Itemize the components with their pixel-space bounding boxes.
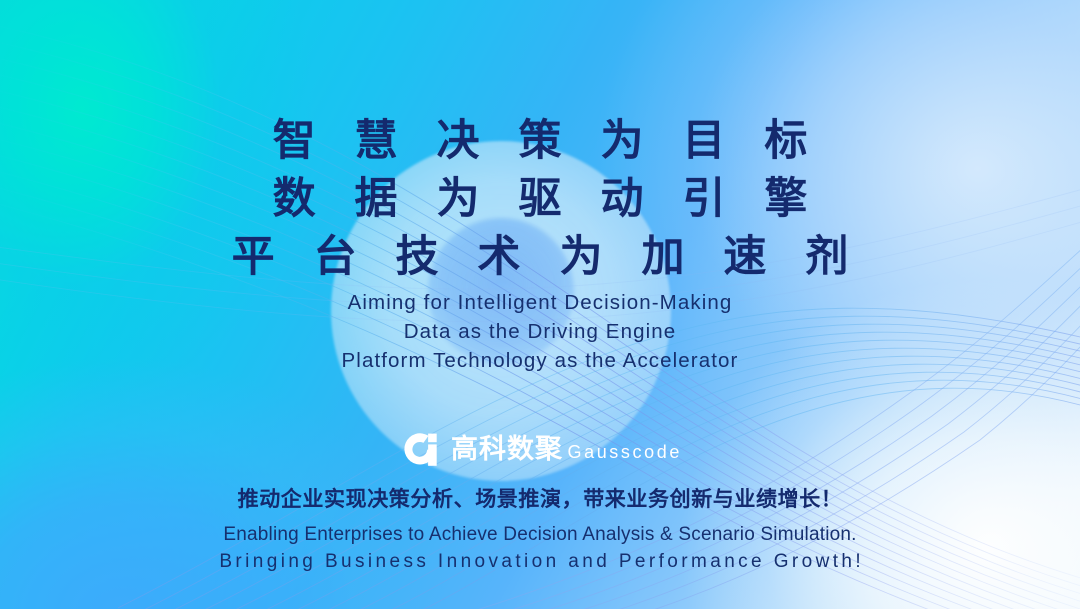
footer-block: 推动企业实现决策分析、场景推演，带来业务创新与业绩增长！ Enabling En… [0,484,1080,575]
logo-text-block: 高科数聚 Gausscode [451,436,682,464]
headline-line-3: 平 台 技 术 为 加 速 剂 [0,228,1080,286]
logo-name-cn: 高科数聚 [451,434,563,465]
gausscode-logo-mark-icon [398,428,442,472]
company-logo: 高科数聚 Gausscode [0,428,1080,472]
footer-tagline-cn: 推动企业实现决策分析、场景推演，带来业务创新与业绩增长！ [0,484,1080,515]
poster-content: 智 慧 决 策 为 目 标 数 据 为 驱 动 引 擎 平 台 技 术 为 加 … [0,0,1080,609]
headline-line-1: 智 慧 决 策 为 目 标 [0,112,1080,170]
headline-line-2: 数 据 为 驱 动 引 擎 [0,170,1080,228]
footer-tagline-en-line-2: Bringing Business Innovation and Perform… [0,548,1080,575]
subheadline-line-1: Aiming for Intelligent Decision-Making [0,288,1080,317]
promo-poster: 智 慧 决 策 为 目 标 数 据 为 驱 动 引 擎 平 台 技 术 为 加 … [0,0,1080,609]
subheadline-block: Aiming for Intelligent Decision-Making D… [0,288,1080,375]
subheadline-line-3: Platform Technology as the Accelerator [0,346,1080,375]
logo-name-en: Gausscode [567,442,681,462]
subheadline-line-2: Data as the Driving Engine [0,317,1080,346]
footer-tagline-en-line-1: Enabling Enterprises to Achieve Decision… [0,521,1080,548]
headline-block: 智 慧 决 策 为 目 标 数 据 为 驱 动 引 擎 平 台 技 术 为 加 … [0,112,1080,286]
